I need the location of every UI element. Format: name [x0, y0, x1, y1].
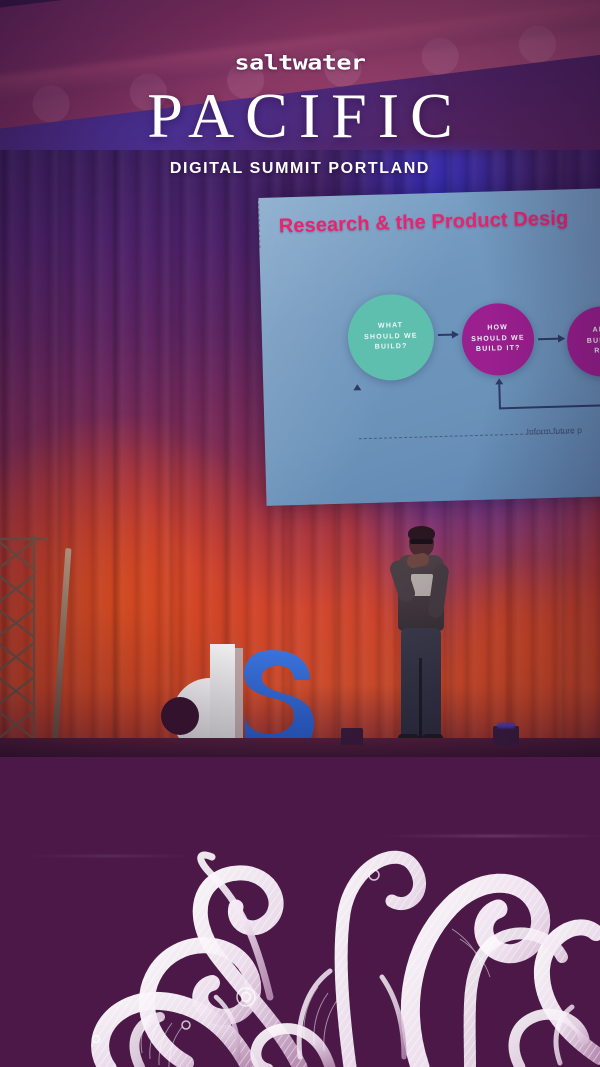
- stage-monitor-right: [493, 726, 519, 745]
- flow-step-2-label: HOWSHOULD WEBUILD IT?: [471, 322, 525, 356]
- stage-monitor-left: [341, 728, 363, 745]
- stage-photo: Research & the Product Desig WHATSHOULD …: [0, 0, 600, 758]
- speaker-figure: [390, 528, 452, 746]
- screenshot-root: Research & the Product Desig WHATSHOULD …: [0, 0, 600, 1067]
- light-streak-left: [20, 855, 200, 857]
- flow-step-1-label: WHATSHOULD WEBUILD?: [364, 320, 418, 354]
- projection-screen: Research & the Product Desig WHATSHOULD …: [258, 188, 600, 506]
- octopus-tentacles-icon: [0, 757, 600, 1067]
- flow-step-3-label: AREBUILDIRIG: [586, 325, 600, 358]
- flow-arrow-2: [538, 338, 564, 341]
- light-streak-right: [380, 835, 600, 837]
- lighting-truss: [0, 535, 50, 758]
- feedback-arrow-1: [353, 384, 361, 390]
- monitor-led: [497, 723, 515, 728]
- slide-footnote: Inform future p: [526, 425, 582, 437]
- flow-arrow-1: [438, 333, 458, 336]
- speaker-glasses: [410, 539, 433, 544]
- speaker-leg-split: [419, 658, 422, 738]
- tentacle-artwork: [0, 757, 600, 1067]
